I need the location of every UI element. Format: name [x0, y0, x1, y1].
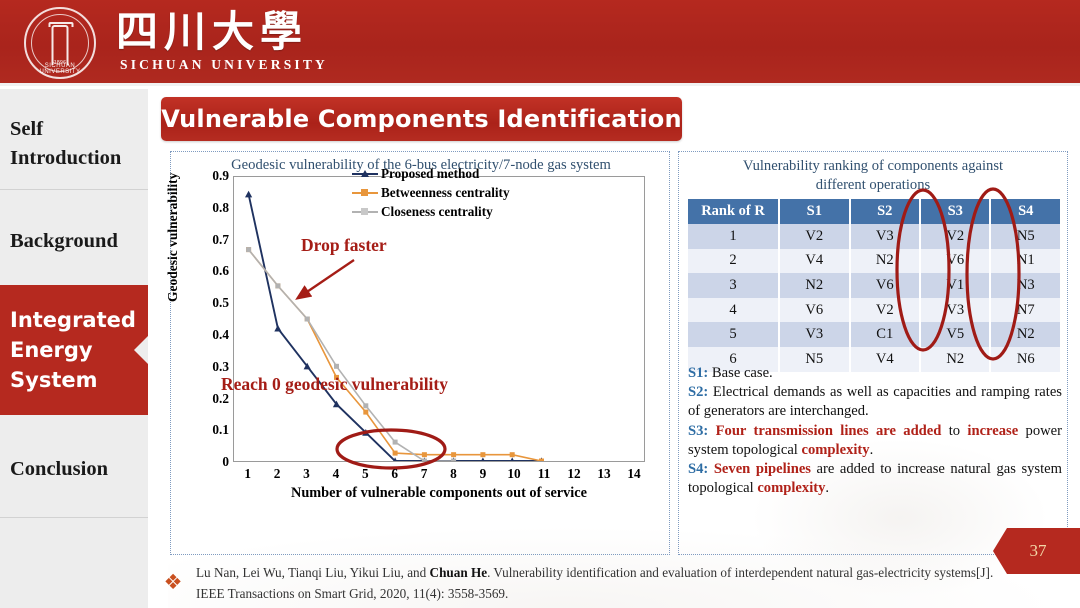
- series-marker-1: [363, 410, 368, 415]
- cell-rank: 2: [688, 249, 779, 274]
- cell-s2: V6: [850, 273, 920, 298]
- cell-rank: 4: [688, 298, 779, 323]
- slide-content-area: Vulnerable Components Identification Geo…: [148, 89, 1080, 608]
- series-line-2: [249, 250, 454, 461]
- note-text: Electrical demands as well as capacities…: [688, 384, 1062, 419]
- chart-y-axis-ticks: 0.9 0.8 0.7 0.6 0.5 0.4 0.3 0.2 0.1 0: [185, 152, 229, 556]
- sidebar-item-label: Background: [10, 227, 118, 256]
- cell-s3: V2: [920, 224, 990, 249]
- x-tick: 2: [274, 466, 281, 482]
- scenario-notes: S1: Base case. S2: Electrical demands as…: [688, 364, 1062, 498]
- x-tick: 13: [597, 466, 610, 482]
- cell-s1: V6: [779, 298, 849, 323]
- series-marker-1: [480, 452, 485, 457]
- legend-label: Betweenness centrality: [381, 185, 510, 201]
- sidebar-item-label: Integrated: [10, 305, 136, 335]
- sidebar-item-label: Self: [10, 115, 43, 144]
- cell-s4: N1: [990, 249, 1060, 274]
- note-s3: S3: Four transmission lines are added to…: [688, 422, 1062, 460]
- table-title-line1: Vulnerability ranking of components agai…: [685, 157, 1061, 176]
- series-marker-1: [422, 452, 427, 457]
- cell-s2: N2: [850, 249, 920, 274]
- university-name-english: SICHUAN UNIVERSITY: [120, 57, 328, 73]
- y-tick: 0.7: [195, 232, 229, 248]
- series-marker-2: [305, 317, 310, 322]
- cell-s3: V3: [920, 298, 990, 323]
- ranking-panel: Vulnerability ranking of components agai…: [678, 151, 1068, 555]
- sidebar-item-background[interactable]: Background: [0, 201, 148, 281]
- table-row: 1V2V3V2N5: [688, 224, 1060, 249]
- legend-label: Proposed method: [381, 166, 479, 182]
- x-tick: 11: [538, 466, 551, 482]
- series-marker-2: [246, 247, 251, 252]
- university-header-banner: 1896 SICHUAN UNIVERSITY 四川大學 SICHUAN UNI…: [0, 0, 1080, 86]
- note-text: Base case.: [708, 365, 772, 381]
- y-tick: 0.6: [195, 263, 229, 279]
- x-tick: 6: [391, 466, 398, 482]
- seal-arc-text: SICHUAN UNIVERSITY: [26, 63, 94, 75]
- series-marker-0: [245, 191, 252, 198]
- cell-s4: N3: [990, 273, 1060, 298]
- slide-sidebar-nav: Self Introduction Background Integrated …: [0, 89, 148, 608]
- university-name-chinese: 四川大學: [116, 9, 308, 55]
- legend-swatch-betweenness-centrality: [352, 192, 378, 194]
- series-marker-2: [363, 403, 368, 408]
- sidebar-item-label-2: Energy: [10, 335, 93, 365]
- table-header-row: Rank of R S1 S2 S3 S4: [688, 199, 1060, 224]
- legend-swatch-proposed-method: [352, 173, 378, 175]
- x-tick: 5: [362, 466, 369, 482]
- geodesic-vulnerability-chart: Geodesic vulnerability of the 6-bus elec…: [171, 152, 671, 556]
- note-key: S4:: [688, 461, 708, 477]
- note-s2: S2: Electrical demands as well as capaci…: [688, 383, 1062, 421]
- vulnerability-ranking-table: Rank of R S1 S2 S3 S4 1V2V3V2N52V4N2V6N1…: [688, 199, 1060, 372]
- cell-s4: N7: [990, 298, 1060, 323]
- column-header-s3: S3: [920, 199, 990, 224]
- series-marker-1: [451, 452, 456, 457]
- x-tick: 8: [450, 466, 457, 482]
- cell-rank: 5: [688, 322, 779, 347]
- legend-item: Betweenness centrality: [352, 183, 567, 202]
- active-pointer-icon: [134, 335, 149, 365]
- cell-s1: N2: [779, 273, 849, 298]
- chart-legend: Proposed method Betweenness centrality C…: [352, 164, 567, 221]
- annotation-reach-zero: Reach 0 geodesic vulnerability: [221, 374, 448, 395]
- y-tick: 0.5: [195, 295, 229, 311]
- sidebar-divider: [0, 189, 148, 190]
- series-marker-1: [510, 452, 515, 457]
- citation-text: Lu Nan, Lei Wu, Tianqi Liu, Yikui Liu, a…: [196, 562, 1006, 604]
- chart-x-axis-label: Number of vulnerable components out of s…: [233, 485, 645, 502]
- y-tick: 0.1: [195, 422, 229, 438]
- chart-y-axis-label: Geodesic vulnerability: [165, 173, 181, 302]
- note-key: S1:: [688, 365, 708, 381]
- university-seal-icon: 1896 SICHUAN UNIVERSITY: [24, 7, 96, 79]
- legend-item: Closeness centrality: [352, 202, 567, 221]
- cell-s4: N5: [990, 224, 1060, 249]
- column-header-s2: S2: [850, 199, 920, 224]
- x-tick: 4: [333, 466, 340, 482]
- citation-author-highlight: Chuan He: [430, 565, 488, 580]
- x-tick: 10: [507, 466, 520, 482]
- x-tick: 9: [480, 466, 487, 482]
- citation-title-a: . Vulnerability identification and evalu…: [487, 565, 731, 580]
- sidebar-item-self-introduction[interactable]: Self Introduction: [0, 103, 148, 185]
- column-header-s4: S4: [990, 199, 1060, 224]
- note-text: Seven pipelines are added to increase na…: [688, 461, 1062, 496]
- sidebar-item-label-3: System: [10, 365, 97, 395]
- series-marker-1: [393, 451, 398, 456]
- x-tick: 12: [567, 466, 580, 482]
- series-line-0: [249, 194, 542, 461]
- cell-s2: V3: [850, 224, 920, 249]
- note-s1: S1: Base case.: [688, 364, 1062, 383]
- table-row: 3N2V6V1N3: [688, 273, 1060, 298]
- table-row: 5V3C1V5N2: [688, 322, 1060, 347]
- cell-s2: V2: [850, 298, 920, 323]
- cell-s1: V3: [779, 322, 849, 347]
- page-title: Vulnerable Components Identification: [161, 97, 682, 141]
- table-row: 2V4N2V6N1: [688, 249, 1060, 274]
- x-tick: 14: [627, 466, 640, 482]
- annotation-drop-faster: Drop faster: [301, 235, 387, 256]
- table-title-line2: different operations: [685, 176, 1061, 195]
- note-s4: S4: Seven pipelines are added to increas…: [688, 460, 1062, 498]
- note-key: S3:: [688, 423, 708, 439]
- cell-s2: C1: [850, 322, 920, 347]
- y-tick: 0.3: [195, 359, 229, 375]
- sidebar-divider: [0, 517, 148, 518]
- x-tick: 7: [421, 466, 428, 482]
- legend-item: Proposed method: [352, 164, 567, 183]
- note-text: Four transmission lines are added to inc…: [688, 423, 1062, 458]
- x-tick: 1: [244, 466, 251, 482]
- y-tick: 0.8: [195, 200, 229, 216]
- chart-panel: Geodesic vulnerability of the 6-bus elec…: [170, 151, 670, 555]
- x-tick: 3: [303, 466, 310, 482]
- y-tick: 0: [195, 454, 229, 470]
- series-marker-2: [334, 364, 339, 369]
- series-marker-2: [275, 283, 280, 288]
- cell-rank: 1: [688, 224, 779, 249]
- column-header-rank: Rank of R: [688, 199, 779, 224]
- legend-swatch-closeness-centrality: [352, 211, 378, 213]
- cell-s3: V1: [920, 273, 990, 298]
- column-header-s1: S1: [779, 199, 849, 224]
- sidebar-item-label: Conclusion: [10, 455, 108, 484]
- sidebar-item-conclusion[interactable]: Conclusion: [0, 434, 148, 504]
- series-line-1: [249, 250, 542, 461]
- table-row: 4V6V2V3N7: [688, 298, 1060, 323]
- citation-authors-a: Lu Nan, Lei Wu, Tianqi Liu, Yikui Liu, a…: [196, 565, 430, 580]
- cell-s4: N2: [990, 322, 1060, 347]
- series-marker-2: [422, 459, 427, 462]
- y-tick: 0.9: [195, 168, 229, 184]
- cell-s1: V2: [779, 224, 849, 249]
- sidebar-item-integrated-energy-system[interactable]: Integrated Energy System: [0, 285, 148, 415]
- cell-s1: V4: [779, 249, 849, 274]
- cell-rank: 3: [688, 273, 779, 298]
- cell-s3: V6: [920, 249, 990, 274]
- page-number-badge: 37: [993, 528, 1080, 574]
- series-marker-2: [393, 440, 398, 445]
- cell-s3: V5: [920, 322, 990, 347]
- sidebar-item-label-2: Introduction: [10, 144, 121, 173]
- note-key: S2:: [688, 384, 708, 400]
- leaf-logo-icon: ❖: [162, 570, 184, 594]
- y-tick: 0.4: [195, 327, 229, 343]
- series-marker-2: [451, 459, 456, 462]
- series-marker-0: [274, 325, 281, 332]
- slide-footer: ❖ Lu Nan, Lei Wu, Tianqi Liu, Yikui Liu,…: [148, 560, 1080, 608]
- legend-label: Closeness centrality: [381, 204, 493, 220]
- series-marker-1: [539, 459, 544, 462]
